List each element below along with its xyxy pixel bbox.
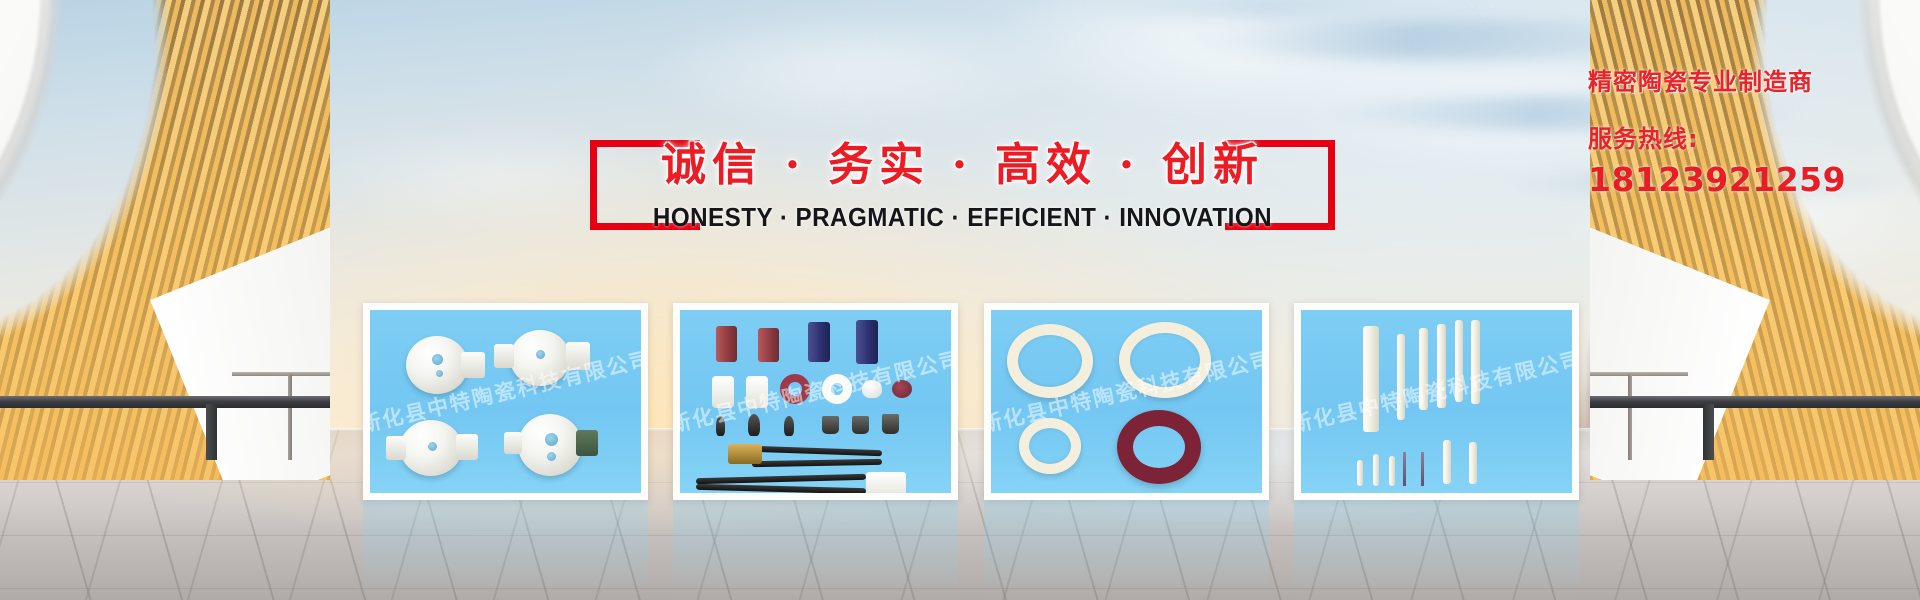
- ceramic-rod-5: [1455, 320, 1463, 402]
- product-panel-rings[interactable]: 新化县中特陶瓷科技有限公司: [984, 303, 1269, 500]
- wire-assembly-2a: [696, 474, 866, 484]
- lamp-holder-4: [518, 414, 582, 476]
- product-panel-rods[interactable]: 新化县中特陶瓷科技有限公司: [1294, 303, 1579, 500]
- ceramic-rod-11: [1389, 456, 1395, 486]
- hero-banner: 诚信 · 务实 · 高效 · 创新 HONESTY · PRAGMATIC · …: [0, 0, 1920, 600]
- lamp-holder-2: [510, 330, 570, 386]
- white-cap: [862, 380, 882, 398]
- white-plate-2: [746, 376, 768, 408]
- panel-reflection-1: [363, 500, 648, 600]
- blue-tube-2: [856, 320, 878, 364]
- ceramic-ring-large-2: [1119, 322, 1211, 398]
- wire-assembly-1a: [752, 446, 882, 457]
- wire-assembly-1b: [752, 459, 882, 467]
- panel-canvas-2: 新化县中特陶瓷科技有限公司: [680, 310, 951, 493]
- panel-reflection-4: [1294, 500, 1579, 600]
- panel-canvas-4: 新化县中特陶瓷科技有限公司: [1301, 310, 1572, 493]
- clip-1: [716, 416, 725, 436]
- clip-3: [784, 416, 794, 436]
- ceramic-rod-4: [1437, 324, 1446, 408]
- clip-4: [822, 416, 839, 434]
- blue-tube-1: [808, 322, 830, 362]
- panel-reflection-2: [673, 500, 958, 600]
- clip-5: [852, 416, 869, 434]
- clip-6: [882, 414, 899, 434]
- red-tube-1: [716, 326, 737, 362]
- product-panel-connectors[interactable]: 新化县中特陶瓷科技有限公司: [673, 303, 958, 500]
- ceramic-rod-6: [1471, 320, 1480, 404]
- product-panel-lamp-holders[interactable]: 新化县中特陶瓷科技有限公司: [363, 303, 648, 500]
- white-plate-1: [712, 376, 734, 408]
- panel-canvas-3: 新化县中特陶瓷科技有限公司: [991, 310, 1262, 493]
- ceramic-ring-small: [1019, 418, 1081, 474]
- brass-terminal: [728, 444, 762, 464]
- white-ring-small: [822, 374, 852, 404]
- panel-canvas-1: 新化县中特陶瓷科技有限公司: [370, 310, 641, 493]
- ceramic-rod-thick: [1363, 326, 1379, 432]
- ceramic-rod-7: [1443, 440, 1451, 484]
- clip-2: [748, 414, 760, 436]
- ceramic-rod-2: [1397, 334, 1405, 420]
- ceramic-rod-9: [1357, 460, 1363, 486]
- ceramic-ring-large-1: [1007, 324, 1093, 398]
- white-connector-block: [866, 472, 906, 493]
- ceramic-rod-3: [1419, 328, 1428, 410]
- maroon-ring-large: [1117, 410, 1201, 484]
- wire-assembly-2b: [696, 484, 866, 493]
- maroon-disc: [892, 380, 912, 398]
- lamp-holder-1: [406, 336, 468, 394]
- panel-reflection-3: [984, 500, 1269, 600]
- ceramic-rod-8: [1469, 442, 1477, 484]
- thin-purple-pin-2: [1421, 452, 1424, 486]
- ceramic-rod-10: [1373, 454, 1379, 486]
- product-panel-row: 新化县中特陶瓷科技有限公司: [0, 0, 1920, 600]
- lamp-holder-3: [400, 420, 462, 476]
- red-tube-2: [758, 328, 779, 362]
- maroon-ring-small: [780, 374, 810, 404]
- thin-purple-pin-1: [1403, 452, 1406, 486]
